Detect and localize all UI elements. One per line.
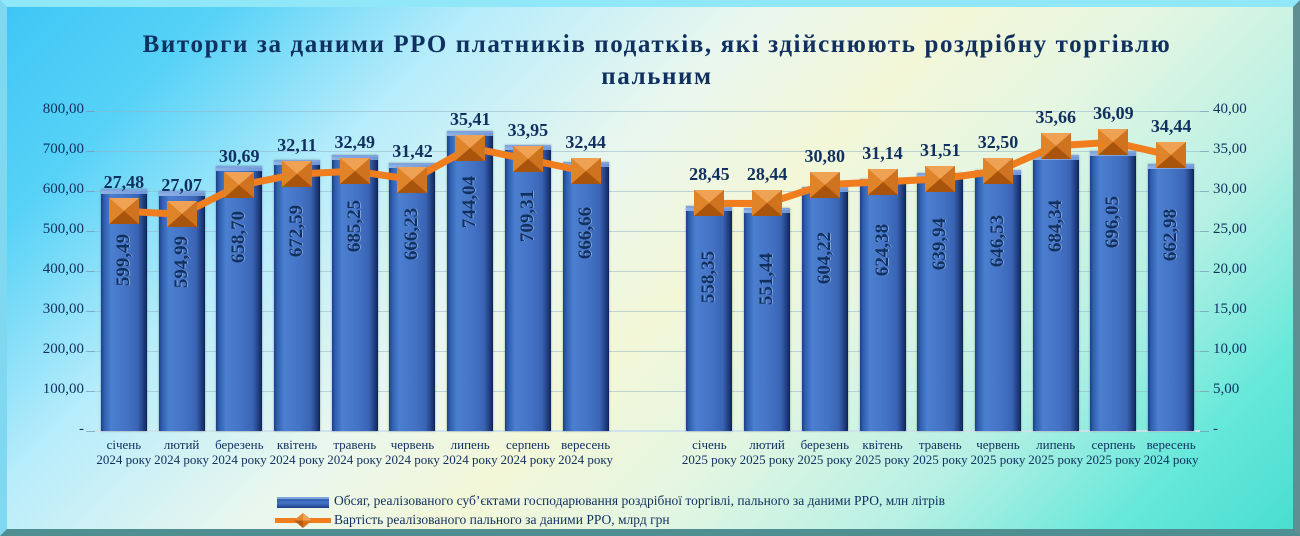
line-value-label: 31,14 xyxy=(862,143,903,164)
legend-label-bar: Обсяг, реалізованого суб’єктами господар… xyxy=(334,493,945,509)
chart-title: Виторги за даними РРО платників податків… xyxy=(127,29,1187,93)
bar-value-label: 624,38 xyxy=(872,224,894,276)
right-axis-tick-label: 10,00 xyxy=(1213,341,1283,358)
bar: 662,98 xyxy=(1148,164,1194,431)
category-label: березень2024 року xyxy=(210,437,268,467)
category-label: серпень2025 року xyxy=(1085,437,1143,467)
category-label: вересень2024 року xyxy=(557,437,615,467)
left-axis-tick-label: 500,00 xyxy=(4,221,84,238)
category-label: вересень2024 року xyxy=(1142,437,1200,467)
bar-value-label: 666,66 xyxy=(575,207,597,259)
right-axis-tick-label: 15,00 xyxy=(1213,301,1283,318)
line-marker xyxy=(1155,141,1187,169)
line-value-label: 27,48 xyxy=(104,172,145,193)
category-month: січень xyxy=(681,437,739,452)
category-label: травень2025 року xyxy=(911,437,969,467)
category-year: 2025 року xyxy=(854,452,912,467)
category-year: 2024 року xyxy=(326,452,384,467)
bar: 599,49 xyxy=(101,189,147,431)
bar: 696,05 xyxy=(1090,151,1136,431)
right-axis-tick-label: - xyxy=(1213,421,1283,438)
category-label: травень2024 року xyxy=(326,437,384,467)
line-marker xyxy=(166,200,198,228)
chart-legend: Обсяг, реалізованого суб’єктами господар… xyxy=(275,491,1075,529)
line-value-label: 27,07 xyxy=(161,175,202,196)
right-axis-tick xyxy=(1200,311,1209,312)
category-label: липень2025 року xyxy=(1027,437,1085,467)
line-value-label: 30,69 xyxy=(219,146,260,167)
line-value-label: 31,51 xyxy=(920,140,961,161)
category-month: лютий xyxy=(153,437,211,452)
category-label: серпень2024 року xyxy=(499,437,557,467)
line-value-label: 28,45 xyxy=(689,164,730,185)
line-marker xyxy=(339,157,371,185)
category-month: квітень xyxy=(854,437,912,452)
left-axis-tick-label: - xyxy=(4,421,84,438)
right-axis-tick xyxy=(1200,431,1209,432)
line-marker xyxy=(809,171,841,199)
legend-label-line: Вартість реалізованого пального за даним… xyxy=(334,512,670,528)
left-axis-tick-label: 200,00 xyxy=(4,341,84,358)
category-month: липень xyxy=(441,437,499,452)
bar: 684,34 xyxy=(1033,155,1079,431)
category-year: 2024 року xyxy=(210,452,268,467)
left-axis-tick-label: 100,00 xyxy=(4,381,84,398)
category-month: серпень xyxy=(499,437,557,452)
bar-value-label: 684,34 xyxy=(1045,200,1067,252)
category-month: червень xyxy=(384,437,442,452)
line-series-key-icon xyxy=(275,513,331,527)
left-axis-tick xyxy=(86,391,95,392)
category-month: серпень xyxy=(1085,437,1143,452)
right-axis-tick xyxy=(1200,151,1209,152)
bar: 646,53 xyxy=(975,170,1021,431)
right-axis-tick xyxy=(1200,271,1209,272)
category-year: 2024 року xyxy=(557,452,615,467)
category-year: 2025 року xyxy=(969,452,1027,467)
bar: 658,70 xyxy=(216,166,262,431)
chart-frame: Виторги за даними РРО платників податків… xyxy=(0,0,1300,536)
category-year: 2025 року xyxy=(738,452,796,467)
category-label: лютий2025 року xyxy=(738,437,796,467)
right-axis-tick xyxy=(1200,191,1209,192)
line-value-label: 32,11 xyxy=(277,135,317,156)
category-label: червень2024 року xyxy=(384,437,442,467)
line-value-label: 33,95 xyxy=(508,120,549,141)
category-year: 2025 року xyxy=(1085,452,1143,467)
right-axis-tick xyxy=(1200,351,1209,352)
line-marker xyxy=(924,165,956,193)
bar-value-label: 551,44 xyxy=(756,253,778,305)
bar-value-label: 594,99 xyxy=(171,236,193,288)
category-month: лютий xyxy=(738,437,796,452)
line-value-label: 35,66 xyxy=(1035,107,1076,128)
bar: 666,23 xyxy=(389,163,435,431)
right-axis-tick xyxy=(1200,391,1209,392)
category-year: 2025 року xyxy=(796,452,854,467)
line-marker xyxy=(454,134,486,162)
category-label: квітень2025 року xyxy=(854,437,912,467)
right-axis-tick-label: 40,00 xyxy=(1213,101,1283,118)
left-axis-tick xyxy=(86,431,95,432)
line-value-label: 28,44 xyxy=(747,164,788,185)
left-axis-tick-label: 800,00 xyxy=(4,101,84,118)
category-year: 2024 року xyxy=(268,452,326,467)
category-year: 2025 року xyxy=(1027,452,1085,467)
right-axis-tick-label: 20,00 xyxy=(1213,261,1283,278)
category-month: травень xyxy=(911,437,969,452)
bar-value-label: 666,23 xyxy=(401,207,423,259)
bar: 558,35 xyxy=(686,206,732,431)
category-month: травень xyxy=(326,437,384,452)
left-axis-tick-label: 300,00 xyxy=(4,301,84,318)
right-axis-tick xyxy=(1200,111,1209,112)
bar-value-label: 558,35 xyxy=(698,251,720,303)
left-axis-tick xyxy=(86,151,95,152)
category-year: 2024 року xyxy=(441,452,499,467)
gridline xyxy=(95,111,1200,112)
plot-area: 599,49594,99658,70672,59685,25666,23744,… xyxy=(95,111,1200,431)
category-label: липень2024 року xyxy=(441,437,499,467)
line-value-label: 32,44 xyxy=(565,132,606,153)
line-marker xyxy=(396,166,428,194)
bar: 744,04 xyxy=(447,131,493,431)
line-value-label: 35,41 xyxy=(450,109,491,130)
category-year: 2025 року xyxy=(681,452,739,467)
right-axis-tick-label: 30,00 xyxy=(1213,181,1283,198)
category-month: березень xyxy=(796,437,854,452)
line-marker xyxy=(1040,132,1072,160)
right-axis-tick-label: 25,00 xyxy=(1213,221,1283,238)
bar: 551,44 xyxy=(744,208,790,431)
left-axis-tick xyxy=(86,111,95,112)
category-label: січень2025 року xyxy=(681,437,739,467)
bar: 709,31 xyxy=(505,145,551,431)
gridline xyxy=(95,151,1200,152)
category-label: квітень2024 року xyxy=(268,437,326,467)
bar: 624,38 xyxy=(860,179,906,431)
line-marker xyxy=(223,171,255,199)
category-year: 2025 року xyxy=(911,452,969,467)
category-year: 2024 року xyxy=(384,452,442,467)
category-month: січень xyxy=(95,437,153,452)
line-marker xyxy=(281,160,313,188)
bar: 685,25 xyxy=(332,155,378,431)
bar-value-label: 672,59 xyxy=(286,205,308,257)
line-marker xyxy=(1097,128,1129,156)
line-value-label: 30,80 xyxy=(805,146,846,167)
category-year: 2024 року xyxy=(153,452,211,467)
left-axis-tick-label: 600,00 xyxy=(4,181,84,198)
bar-value-label: 599,49 xyxy=(113,234,135,286)
line-marker xyxy=(693,189,725,217)
left-axis-tick xyxy=(86,231,95,232)
line-value-label: 34,44 xyxy=(1151,116,1192,137)
right-axis-tick-label: 5,00 xyxy=(1213,381,1283,398)
category-year: 2024 року xyxy=(499,452,557,467)
left-axis-tick-label: 400,00 xyxy=(4,261,84,278)
bar-value-label: 744,04 xyxy=(459,176,481,228)
legend-item-line: Вартість реалізованого пального за даним… xyxy=(275,510,1075,529)
right-axis-tick-label: 35,00 xyxy=(1213,141,1283,158)
left-axis-tick xyxy=(86,191,95,192)
category-year: 2024 року xyxy=(1142,452,1200,467)
category-label: березень2025 року xyxy=(796,437,854,467)
line-value-label: 36,09 xyxy=(1093,103,1134,124)
line-marker xyxy=(512,145,544,173)
left-axis-tick xyxy=(86,311,95,312)
line-marker xyxy=(867,168,899,196)
category-label: лютий2024 року xyxy=(153,437,211,467)
category-month: червень xyxy=(969,437,1027,452)
category-month: липень xyxy=(1027,437,1085,452)
bar-value-label: 658,70 xyxy=(228,210,250,262)
line-marker xyxy=(108,197,140,225)
line-value-label: 31,42 xyxy=(392,141,433,162)
category-month: вересень xyxy=(1142,437,1200,452)
legend-item-bar: Обсяг, реалізованого суб’єктами господар… xyxy=(275,491,1075,510)
bar-value-label: 662,98 xyxy=(1160,209,1182,261)
line-value-label: 32,50 xyxy=(978,132,1019,153)
left-axis-tick-label: 700,00 xyxy=(4,141,84,158)
category-label: січень2024 року xyxy=(95,437,153,467)
bar: 639,94 xyxy=(917,173,963,431)
bar-value-label: 646,53 xyxy=(987,215,1009,267)
bar: 604,22 xyxy=(802,187,848,431)
bar-value-label: 604,22 xyxy=(814,232,836,284)
bar: 666,66 xyxy=(563,162,609,431)
bar: 672,59 xyxy=(274,160,320,431)
category-month: березень xyxy=(210,437,268,452)
bar-series-key-icon xyxy=(275,494,331,508)
category-month: квітень xyxy=(268,437,326,452)
category-label: червень2025 року xyxy=(969,437,1027,467)
line-value-label: 32,49 xyxy=(335,132,376,153)
left-axis-tick xyxy=(86,351,95,352)
bar-value-label: 685,25 xyxy=(344,200,366,252)
line-marker xyxy=(570,157,602,185)
category-year: 2024 року xyxy=(95,452,153,467)
bar-value-label: 709,31 xyxy=(517,190,539,242)
left-axis-tick xyxy=(86,271,95,272)
bar-value-label: 639,94 xyxy=(929,218,951,270)
line-marker xyxy=(982,157,1014,185)
bar-value-label: 696,05 xyxy=(1102,195,1124,247)
line-marker xyxy=(751,189,783,217)
right-axis-tick xyxy=(1200,231,1209,232)
category-month: вересень xyxy=(557,437,615,452)
